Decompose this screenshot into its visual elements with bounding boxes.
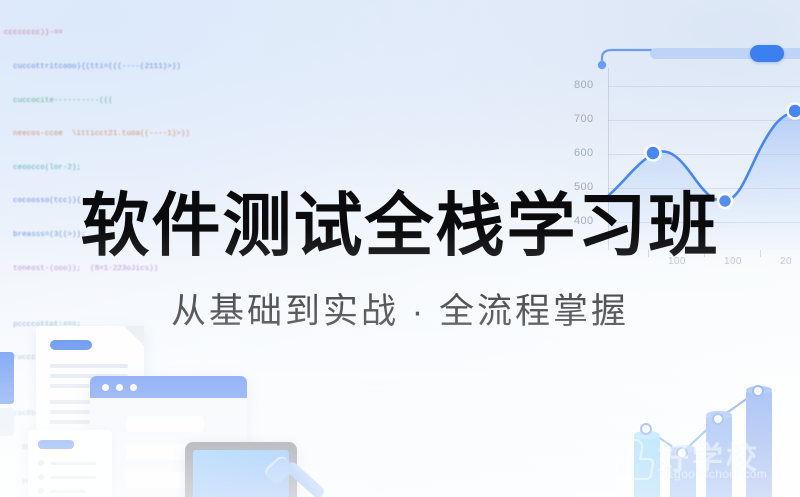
hero-illustration xyxy=(0,322,330,497)
traffic-dot-icon xyxy=(130,384,137,391)
checklist-bullet-icon xyxy=(38,488,44,494)
line-node xyxy=(752,385,764,397)
left-accent-block-secondary xyxy=(0,408,14,436)
line-node xyxy=(640,423,652,435)
bar-chart xyxy=(614,357,794,497)
checklist-card xyxy=(28,430,112,497)
checklist-bullet-icon xyxy=(38,460,44,466)
page-fold-icon xyxy=(124,326,144,346)
traffic-dot-icon xyxy=(102,384,109,391)
checklist-bullet-icon xyxy=(38,474,44,480)
browser-field-row xyxy=(126,416,204,432)
line-node xyxy=(676,447,688,459)
course-banner: cccccccc))-== cuccottritcooo){(tti=(((--… xyxy=(0,0,800,497)
line-node xyxy=(712,413,724,425)
bar-4 xyxy=(746,390,772,497)
document-badge xyxy=(50,340,92,350)
checklist-line xyxy=(50,490,86,493)
page-title: 软件测试全栈学习班 xyxy=(0,186,800,266)
data-point-600 xyxy=(646,146,661,161)
left-accent-block xyxy=(0,352,14,404)
bar-1 xyxy=(634,435,660,497)
slider-knob[interactable] xyxy=(750,45,784,62)
checklist-badge xyxy=(38,440,74,449)
progress-slider[interactable] xyxy=(594,36,800,70)
data-point-690 xyxy=(788,104,800,119)
code-line: cuccottritcooo){(tti=(((----(2111)>)) xyxy=(4,62,334,73)
browser-title-bar xyxy=(90,376,247,398)
traffic-dot-icon xyxy=(116,384,123,391)
bar-3 xyxy=(706,415,732,497)
checklist-line xyxy=(50,462,96,465)
checklist-line xyxy=(50,476,96,479)
code-line: ceoocco(lor-2); xyxy=(4,163,334,174)
code-line: cuccocite----------((( xyxy=(4,96,334,107)
document-text-line xyxy=(50,364,128,368)
code-line: cccccccc))-== xyxy=(4,28,334,39)
code-line: neecos-ccoe \itticct21.tuoa((----1)>)) xyxy=(4,129,334,140)
